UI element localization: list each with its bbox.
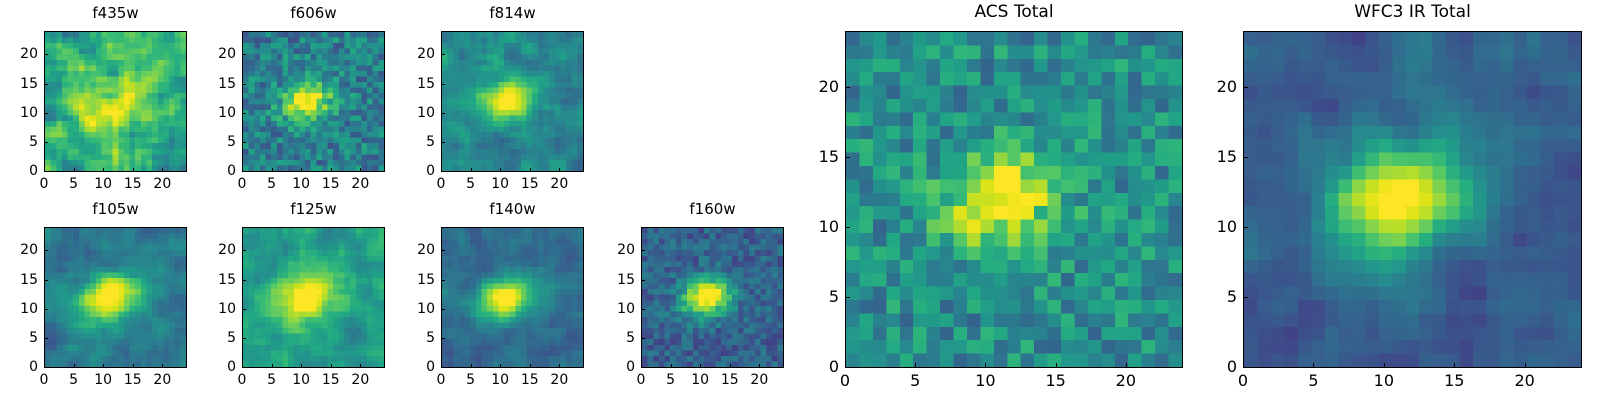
yticklabel-wfc3_ir_total-0: 0: [1195, 359, 1237, 375]
heatmap-f160w: [641, 227, 784, 368]
yticklabel-f160w-20: 20: [593, 243, 635, 257]
ytick-f160w-15: [641, 280, 645, 281]
panel-title-acs_total: ACS Total: [845, 4, 1183, 21]
xtick-wfc3_ir_total-15: [1454, 363, 1455, 368]
yticklabel-f125w-20: 20: [194, 243, 236, 257]
yticklabel-f606w-5: 5: [194, 135, 236, 149]
ytick-f125w-10: [242, 309, 246, 310]
ytick-f160w-0: [641, 367, 645, 368]
heatmap-f105w: [44, 227, 187, 368]
xticklabel-f606w-15: 15: [322, 177, 340, 191]
heatmap-canvas-f814w: [442, 32, 583, 171]
yticklabel-f160w-15: 15: [593, 273, 635, 287]
yticklabel-f814w-10: 10: [393, 106, 435, 120]
yticklabel-f125w-0: 0: [194, 360, 236, 374]
heatmap-wfc3_ir_total: [1243, 31, 1582, 368]
xtick-f606w-15: [331, 168, 332, 172]
xtick-f125w-10: [301, 364, 302, 368]
xtick-f160w-10: [700, 364, 701, 368]
xticklabel-f160w-15: 15: [721, 373, 739, 387]
ytick-f606w-5: [242, 142, 246, 143]
xticklabel-acs_total-15: 15: [1045, 373, 1065, 389]
yticklabel-f105w-5: 5: [0, 331, 38, 345]
ytick-f125w-5: [242, 338, 246, 339]
yticklabel-f140w-0: 0: [393, 360, 435, 374]
yticklabel-f105w-0: 0: [0, 360, 38, 374]
panel-title-f105w: f105w: [44, 202, 187, 217]
yticklabel-f814w-15: 15: [393, 77, 435, 91]
yticklabel-f814w-0: 0: [393, 164, 435, 178]
xtick-f105w-0: [44, 364, 45, 368]
yticklabel-f140w-20: 20: [393, 243, 435, 257]
panel-wfc3_ir_total: WFC3 IR Total0510152005101520: [0, 0, 1600, 400]
ytick-acs_total-15: [845, 157, 850, 158]
yticklabel-f160w-5: 5: [593, 331, 635, 345]
xticklabel-wfc3_ir_total-20: 20: [1514, 373, 1534, 389]
heatmap-f140w: [441, 227, 584, 368]
panel-f125w: f125w0510152005101520: [0, 0, 1600, 400]
xtick-f606w-5: [272, 168, 273, 172]
panel-f140w: f140w0510152005101520: [0, 0, 1600, 400]
ytick-f125w-20: [242, 250, 246, 251]
xticklabel-f435w-20: 20: [153, 177, 171, 191]
xtick-f814w-0: [441, 168, 442, 172]
yticklabel-f125w-15: 15: [194, 273, 236, 287]
ytick-f105w-15: [44, 280, 48, 281]
xticklabel-f140w-15: 15: [521, 373, 539, 387]
ytick-f105w-5: [44, 338, 48, 339]
yticklabel-f606w-10: 10: [194, 106, 236, 120]
xtick-f140w-10: [500, 364, 501, 368]
yticklabel-f435w-15: 15: [0, 77, 38, 91]
yticklabel-f140w-15: 15: [393, 273, 435, 287]
xtick-acs_total-10: [985, 363, 986, 368]
heatmap-canvas-acs_total: [846, 32, 1182, 367]
ytick-f435w-5: [44, 142, 48, 143]
xticklabel-acs_total-10: 10: [975, 373, 995, 389]
xtick-f125w-15: [331, 364, 332, 368]
ytick-f160w-10: [641, 309, 645, 310]
yticklabel-wfc3_ir_total-20: 20: [1195, 79, 1237, 95]
xtick-f814w-15: [530, 168, 531, 172]
ytick-f606w-0: [242, 171, 246, 172]
xtick-f125w-5: [272, 364, 273, 368]
xticklabel-f125w-20: 20: [351, 373, 369, 387]
ytick-f125w-15: [242, 280, 246, 281]
xticklabel-f140w-5: 5: [466, 373, 475, 387]
ytick-f606w-10: [242, 113, 246, 114]
xticklabel-f105w-5: 5: [69, 373, 78, 387]
heatmap-f814w: [441, 31, 584, 172]
xtick-f160w-15: [730, 364, 731, 368]
xtick-acs_total-20: [1126, 363, 1127, 368]
xticklabel-f435w-10: 10: [94, 177, 112, 191]
xtick-f105w-5: [74, 364, 75, 368]
xtick-wfc3_ir_total-20: [1525, 363, 1526, 368]
xtick-f140w-0: [441, 364, 442, 368]
xtick-f606w-20: [360, 168, 361, 172]
xtick-f125w-0: [242, 364, 243, 368]
yticklabel-acs_total-5: 5: [797, 289, 839, 305]
yticklabel-f435w-20: 20: [0, 47, 38, 61]
yticklabel-f814w-20: 20: [393, 47, 435, 61]
xticklabel-acs_total-5: 5: [910, 373, 920, 389]
xtick-f435w-20: [162, 168, 163, 172]
yticklabel-f814w-5: 5: [393, 135, 435, 149]
xticklabel-f140w-20: 20: [550, 373, 568, 387]
panel-title-f814w: f814w: [441, 6, 584, 21]
xtick-f140w-20: [559, 364, 560, 368]
ytick-f140w-0: [441, 367, 445, 368]
ytick-f435w-15: [44, 84, 48, 85]
ytick-f814w-15: [441, 84, 445, 85]
ytick-f105w-20: [44, 250, 48, 251]
xticklabel-f160w-10: 10: [691, 373, 709, 387]
xticklabel-f814w-0: 0: [437, 177, 446, 191]
heatmap-canvas-f105w: [45, 228, 186, 367]
ytick-f140w-10: [441, 309, 445, 310]
xticklabel-acs_total-20: 20: [1116, 373, 1136, 389]
yticklabel-wfc3_ir_total-15: 15: [1195, 149, 1237, 165]
heatmap-f606w: [242, 31, 385, 172]
heatmap-canvas-f140w: [442, 228, 583, 367]
yticklabel-f435w-5: 5: [0, 135, 38, 149]
yticklabel-f160w-0: 0: [593, 360, 635, 374]
yticklabel-f160w-10: 10: [593, 302, 635, 316]
ytick-f160w-20: [641, 250, 645, 251]
xtick-f160w-0: [641, 364, 642, 368]
xtick-f160w-5: [671, 364, 672, 368]
xtick-f435w-10: [103, 168, 104, 172]
xtick-acs_total-0: [845, 363, 846, 368]
heatmap-f435w: [44, 31, 187, 172]
xtick-wfc3_ir_total-10: [1384, 363, 1385, 368]
xticklabel-f814w-10: 10: [491, 177, 509, 191]
yticklabel-f435w-0: 0: [0, 164, 38, 178]
ytick-wfc3_ir_total-5: [1243, 297, 1248, 298]
xtick-f435w-5: [74, 168, 75, 172]
xticklabel-f606w-20: 20: [351, 177, 369, 191]
heatmap-f125w: [242, 227, 385, 368]
panel-f814w: f814w0510152005101520: [0, 0, 1600, 400]
panel-acs_total: ACS Total0510152005101520: [0, 0, 1600, 400]
ytick-f435w-0: [44, 171, 48, 172]
xtick-f105w-10: [103, 364, 104, 368]
panel-title-wfc3_ir_total: WFC3 IR Total: [1243, 4, 1582, 21]
ytick-acs_total-10: [845, 227, 850, 228]
xticklabel-f105w-15: 15: [124, 373, 142, 387]
yticklabel-acs_total-15: 15: [797, 149, 839, 165]
xtick-wfc3_ir_total-0: [1243, 363, 1244, 368]
yticklabel-wfc3_ir_total-10: 10: [1195, 219, 1237, 235]
ytick-f435w-10: [44, 113, 48, 114]
ytick-f814w-5: [441, 142, 445, 143]
xticklabel-f814w-15: 15: [521, 177, 539, 191]
heatmap-canvas-wfc3_ir_total: [1244, 32, 1581, 367]
ytick-f814w-0: [441, 171, 445, 172]
xtick-f814w-5: [471, 168, 472, 172]
xtick-acs_total-5: [915, 363, 916, 368]
heatmap-acs_total: [845, 31, 1183, 368]
xticklabel-f105w-20: 20: [153, 373, 171, 387]
xtick-wfc3_ir_total-5: [1313, 363, 1314, 368]
xtick-f105w-15: [133, 364, 134, 368]
xticklabel-f606w-0: 0: [238, 177, 247, 191]
xtick-f814w-10: [500, 168, 501, 172]
xticklabel-f140w-0: 0: [437, 373, 446, 387]
heatmap-canvas-f125w: [243, 228, 384, 367]
xticklabel-f814w-5: 5: [466, 177, 475, 191]
xticklabel-f105w-0: 0: [40, 373, 49, 387]
ytick-f606w-20: [242, 54, 246, 55]
panel-title-f140w: f140w: [441, 202, 584, 217]
xtick-f814w-20: [559, 168, 560, 172]
xtick-f140w-5: [471, 364, 472, 368]
xticklabel-wfc3_ir_total-0: 0: [1238, 373, 1248, 389]
heatmap-canvas-f160w: [642, 228, 783, 367]
xticklabel-f435w-0: 0: [40, 177, 49, 191]
yticklabel-acs_total-0: 0: [797, 359, 839, 375]
panel-f606w: f606w0510152005101520: [0, 0, 1600, 400]
xticklabel-wfc3_ir_total-15: 15: [1444, 373, 1464, 389]
ytick-acs_total-5: [845, 297, 850, 298]
ytick-f140w-15: [441, 280, 445, 281]
yticklabel-wfc3_ir_total-5: 5: [1195, 289, 1237, 305]
yticklabel-f140w-10: 10: [393, 302, 435, 316]
ytick-f140w-20: [441, 250, 445, 251]
xticklabel-f606w-5: 5: [267, 177, 276, 191]
yticklabel-f140w-5: 5: [393, 331, 435, 345]
panel-title-f435w: f435w: [44, 6, 187, 21]
yticklabel-acs_total-10: 10: [797, 219, 839, 235]
panel-f105w: f105w0510152005101520: [0, 0, 1600, 400]
panel-title-f606w: f606w: [242, 6, 385, 21]
xticklabel-f435w-5: 5: [69, 177, 78, 191]
xticklabel-f125w-0: 0: [238, 373, 247, 387]
xticklabel-f435w-15: 15: [124, 177, 142, 191]
panel-title-f125w: f125w: [242, 202, 385, 217]
xticklabel-wfc3_ir_total-10: 10: [1374, 373, 1394, 389]
xticklabel-f160w-5: 5: [666, 373, 675, 387]
xtick-f606w-0: [242, 168, 243, 172]
ytick-f105w-0: [44, 367, 48, 368]
yticklabel-f105w-15: 15: [0, 273, 38, 287]
ytick-wfc3_ir_total-15: [1243, 157, 1248, 158]
xticklabel-f105w-10: 10: [94, 373, 112, 387]
ytick-f105w-10: [44, 309, 48, 310]
yticklabel-f435w-10: 10: [0, 106, 38, 120]
xticklabel-f606w-10: 10: [292, 177, 310, 191]
yticklabel-f125w-10: 10: [194, 302, 236, 316]
yticklabel-f606w-20: 20: [194, 47, 236, 61]
xticklabel-f814w-20: 20: [550, 177, 568, 191]
xtick-f160w-20: [759, 364, 760, 368]
ytick-wfc3_ir_total-20: [1243, 87, 1248, 88]
yticklabel-f125w-5: 5: [194, 331, 236, 345]
yticklabel-f105w-10: 10: [0, 302, 38, 316]
panel-f435w: f435w0510152005101520: [0, 0, 1600, 400]
yticklabel-f606w-15: 15: [194, 77, 236, 91]
yticklabel-f105w-20: 20: [0, 243, 38, 257]
xticklabel-wfc3_ir_total-5: 5: [1308, 373, 1318, 389]
ytick-acs_total-0: [845, 367, 850, 368]
xticklabel-f160w-20: 20: [750, 373, 768, 387]
ytick-f160w-5: [641, 338, 645, 339]
ytick-f125w-0: [242, 367, 246, 368]
xtick-f606w-10: [301, 168, 302, 172]
ytick-f814w-10: [441, 113, 445, 114]
xtick-f105w-20: [162, 364, 163, 368]
xticklabel-f125w-15: 15: [322, 373, 340, 387]
xtick-f435w-0: [44, 168, 45, 172]
xticklabel-f125w-5: 5: [267, 373, 276, 387]
ytick-f435w-20: [44, 54, 48, 55]
xtick-f140w-15: [530, 364, 531, 368]
xticklabel-f160w-0: 0: [637, 373, 646, 387]
xtick-f435w-15: [133, 168, 134, 172]
xtick-f125w-20: [360, 364, 361, 368]
ytick-f814w-20: [441, 54, 445, 55]
ytick-wfc3_ir_total-10: [1243, 227, 1248, 228]
heatmap-canvas-f435w: [45, 32, 186, 171]
ytick-f140w-5: [441, 338, 445, 339]
xticklabel-acs_total-0: 0: [840, 373, 850, 389]
xticklabel-f125w-10: 10: [292, 373, 310, 387]
ytick-wfc3_ir_total-0: [1243, 367, 1248, 368]
heatmap-canvas-f606w: [243, 32, 384, 171]
xticklabel-f140w-10: 10: [491, 373, 509, 387]
yticklabel-acs_total-20: 20: [797, 79, 839, 95]
ytick-f606w-15: [242, 84, 246, 85]
yticklabel-f606w-0: 0: [194, 164, 236, 178]
panel-f160w: f160w0510152005101520: [0, 0, 1600, 400]
ytick-acs_total-20: [845, 87, 850, 88]
panel-title-f160w: f160w: [641, 202, 784, 217]
xtick-acs_total-15: [1056, 363, 1057, 368]
